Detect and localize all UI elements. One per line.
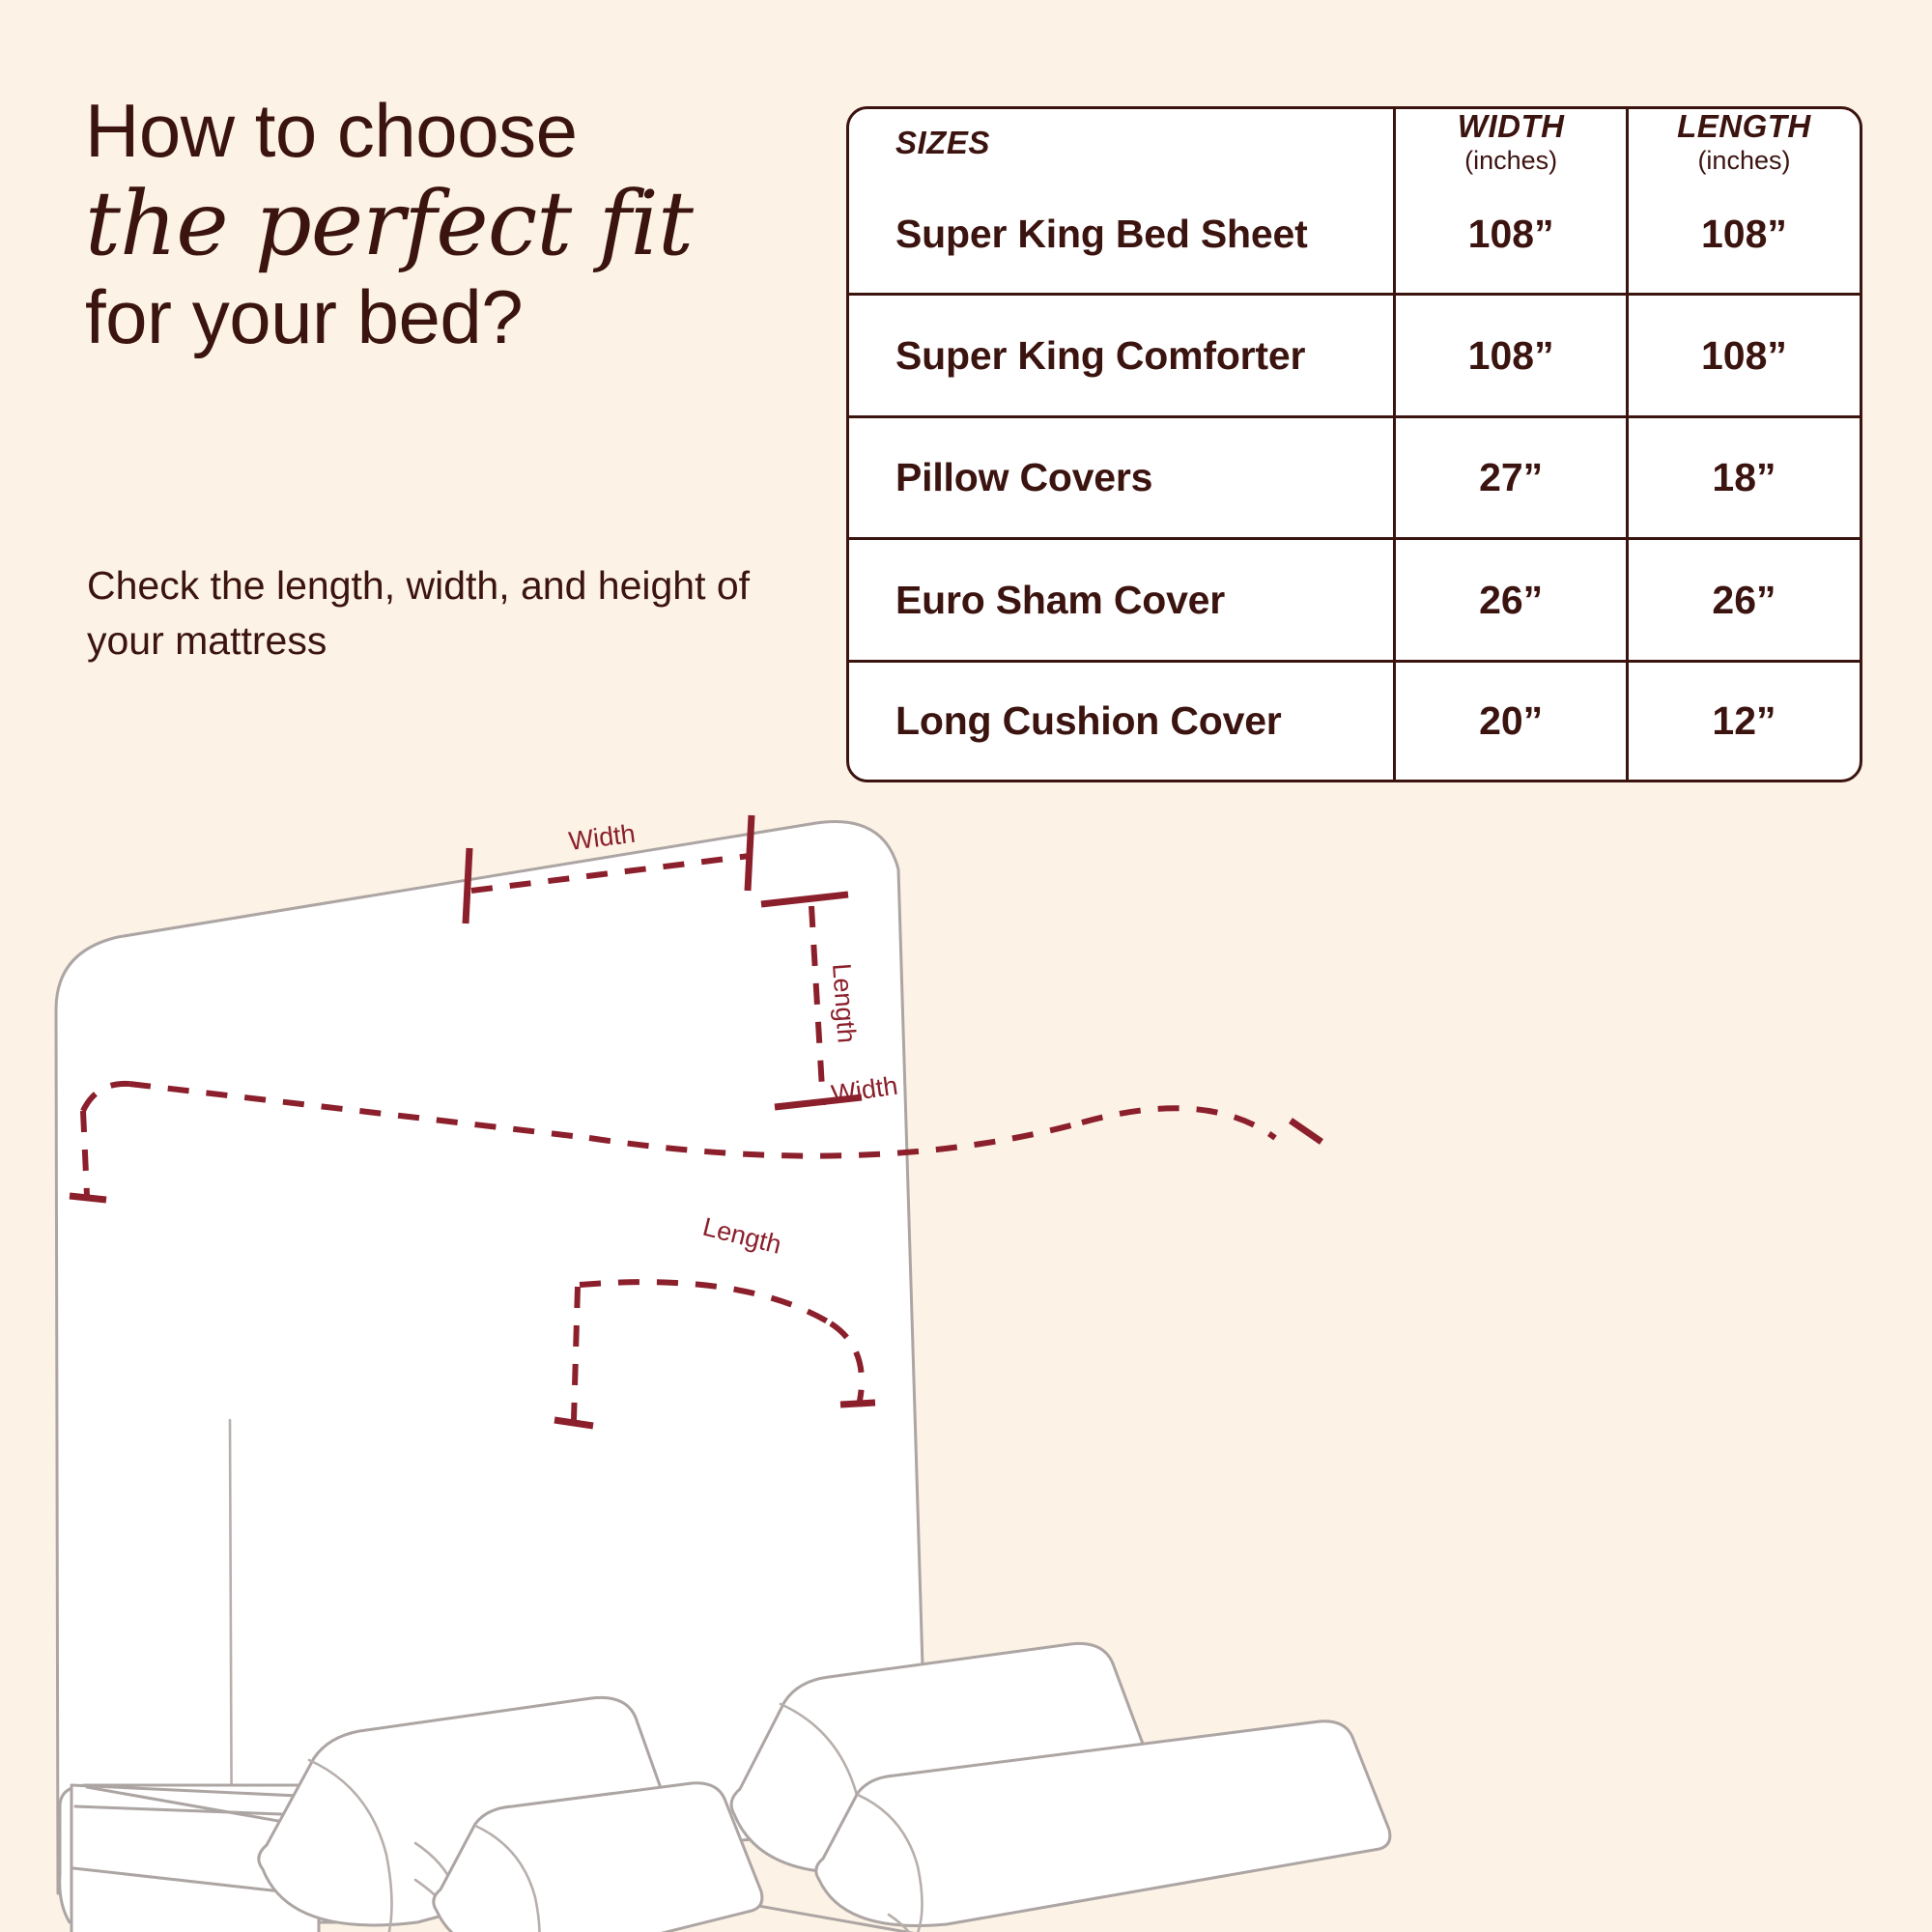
sizing-guide-page: How to choose the perfect fit for your b…	[0, 0, 1932, 1932]
table-header-row: SIZES WIDTH (inches) LENGTH (inches)	[849, 109, 1860, 176]
row-name: Super King Comforter	[849, 295, 1395, 416]
row-width: 20”	[1395, 661, 1628, 780]
row-name: Long Cushion Cover	[849, 661, 1395, 780]
row-length: 26”	[1627, 539, 1860, 661]
table-row: Long Cushion Cover 20” 12”	[849, 661, 1860, 780]
table-row: Super King Bed Sheet 108” 108”	[849, 176, 1860, 295]
table-row: Pillow Covers 27” 18”	[849, 416, 1860, 538]
column-header-width-label: WIDTH	[1396, 109, 1626, 145]
column-header-length-label: LENGTH	[1629, 109, 1860, 145]
row-length: 108”	[1627, 176, 1860, 295]
row-width: 108”	[1395, 295, 1628, 416]
page-title: How to choose the perfect fit for your b…	[85, 93, 800, 355]
page-subtitle: Check the length, width, and height of y…	[87, 558, 763, 668]
page-title-line-1: How to choose	[85, 93, 800, 170]
bed-line-drawing: Width Length Width	[0, 802, 1932, 1932]
table-row: Euro Sham Cover 26” 26”	[849, 539, 1860, 661]
row-length: 12”	[1627, 661, 1860, 780]
size-chart-table: SIZES WIDTH (inches) LENGTH (inches) Sup…	[846, 106, 1862, 782]
column-header-length: LENGTH (inches)	[1627, 109, 1860, 176]
annotation-label-pillow-length: Length	[827, 962, 862, 1043]
row-length: 108”	[1627, 295, 1860, 416]
row-width: 27”	[1395, 416, 1628, 538]
row-length: 18”	[1627, 416, 1860, 538]
column-header-length-unit: (inches)	[1629, 145, 1860, 176]
page-title-line-3: for your bed?	[85, 279, 800, 356]
column-header-sizes: SIZES	[849, 109, 1395, 176]
page-title-line-2: the perfect fit	[85, 174, 800, 273]
row-name: Pillow Covers	[849, 416, 1395, 538]
row-width: 108”	[1395, 176, 1628, 295]
row-width: 26”	[1395, 539, 1628, 661]
row-name: Euro Sham Cover	[849, 539, 1395, 661]
row-name: Super King Bed Sheet	[849, 176, 1395, 295]
column-header-width-unit: (inches)	[1396, 145, 1626, 176]
table-row: Super King Comforter 108” 108”	[849, 295, 1860, 416]
annotation-label-pillow-width: Width	[567, 819, 637, 856]
column-header-width: WIDTH (inches)	[1395, 109, 1628, 176]
